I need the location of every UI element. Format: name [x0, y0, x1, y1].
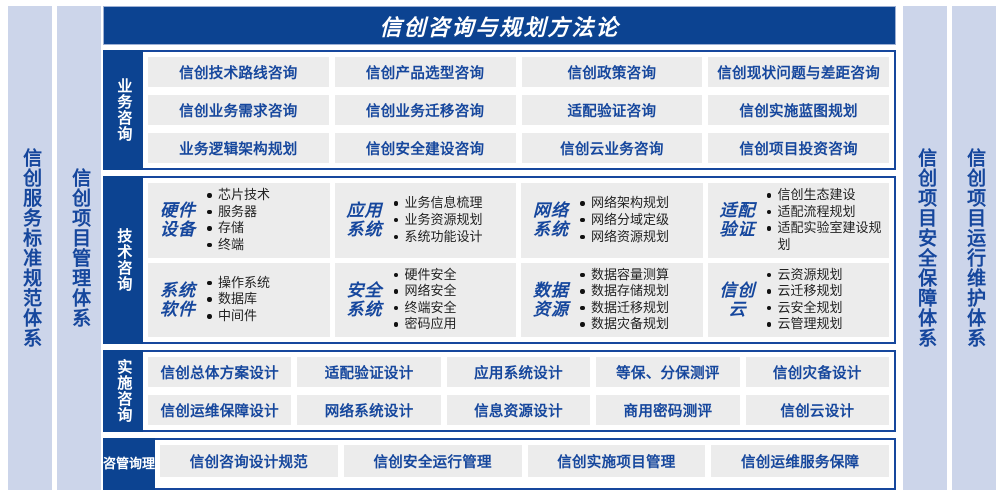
pill-item[interactable]: 网络系统设计	[297, 395, 440, 425]
tech-list-item: 系统功能设计	[393, 229, 513, 246]
tech-list-item: 芯片技术	[206, 187, 326, 204]
tech-list-item: 云安全规划	[766, 300, 886, 317]
tech-card-title: 应用 系统	[341, 201, 393, 239]
tech-list-item: 适配流程规划	[766, 204, 886, 221]
pillar-left-service-standard: 信创服务标准规范体系	[8, 6, 52, 490]
tech-card-xinchuang-cloud[interactable]: 信创 云 云资源规划 云迁移规划 云安全规划 云管理规划	[708, 263, 890, 338]
tech-list-item: 业务资源规划	[393, 212, 513, 229]
section-consulting-management: 咨管 询理 信创咨询设计规范 信创安全运行管理 信创实施项目管理 信创运维服务保…	[103, 438, 896, 490]
pillar-left-project-management: 信创项目管理体系	[57, 6, 101, 490]
pill-item[interactable]: 信创运维服务保障	[711, 445, 889, 477]
tech-list-item: 适配实验室建设规划	[766, 220, 886, 253]
tech-list-item: 中间件	[206, 308, 326, 325]
pillar-right-operations-maintenance: 信创项目运行维护体系	[952, 6, 996, 490]
page-title: 信创咨询与规划方法论	[103, 6, 896, 45]
tech-card-title-line: 云	[714, 300, 762, 319]
tech-card-title-line: 信创	[714, 281, 762, 300]
tech-card-title-line: 验证	[714, 220, 762, 239]
section-body-technical-consulting: 硬件 设备 芯片技术 服务器 存储 终端 应用 系统	[143, 176, 896, 344]
section-label-technical-consulting: 技术咨询	[103, 176, 143, 344]
tech-list-item: 数据库	[206, 291, 326, 308]
pill-row: 信创运维保障设计 网络系统设计 信息资源设计 商用密码测评 信创云设计	[148, 395, 889, 425]
tech-card-list: 信创生态建设 适配流程规划 适配实验室建设规划	[766, 187, 886, 254]
pill-item[interactable]: 信创现状问题与差距咨询	[708, 57, 889, 87]
pill-item[interactable]: 商用密码测评	[596, 395, 739, 425]
pill-item[interactable]: 信创业务迁移咨询	[335, 95, 516, 125]
tech-card-title-line: 系统	[154, 281, 202, 300]
tech-list-item: 网络资源规划	[579, 229, 699, 246]
pill-item[interactable]: 信创运维保障设计	[148, 395, 291, 425]
pillar-right-security-assurance: 信创项目安全保障体系	[903, 6, 947, 490]
tech-card-title-line: 硬件	[154, 201, 202, 220]
tech-card-list: 网络架构规划 网络分域定级 网络资源规划	[579, 195, 699, 245]
pill-row: 业务逻辑架构规划 信创安全建设咨询 信创云业务咨询 信创项目投资咨询	[148, 133, 889, 163]
tech-card-title: 网络 系统	[527, 201, 579, 239]
tech-list-item: 存储	[206, 220, 326, 237]
pill-item[interactable]: 适配验证咨询	[522, 95, 703, 125]
tech-list-item: 网络分域定级	[579, 212, 699, 229]
pill-item[interactable]: 信创实施蓝图规划	[708, 95, 889, 125]
tech-card-adaptation-verification[interactable]: 适配 验证 信创生态建设 适配流程规划 适配实验室建设规划	[708, 183, 890, 258]
tech-card-list: 数据容量测算 数据存储规划 数据迁移规划 数据灾备规划	[579, 267, 699, 334]
pill-item[interactable]: 适配验证设计	[297, 357, 440, 387]
tech-list-item: 操作系统	[206, 275, 326, 292]
pill-item[interactable]: 信创技术路线咨询	[148, 57, 329, 87]
tech-card-title-line: 数据	[527, 281, 575, 300]
tech-card-security-system[interactable]: 安全 系统 硬件安全 网络安全 终端安全 密码应用	[335, 263, 517, 338]
section-implementation-consulting: 实施咨询 信创总体方案设计 适配验证设计 应用系统设计 等保、分保测评 信创灾备…	[103, 350, 896, 432]
pill-item[interactable]: 信创云设计	[746, 395, 889, 425]
tech-list-item: 云资源规划	[766, 267, 886, 284]
pill-item[interactable]: 信创总体方案设计	[148, 357, 291, 387]
tech-card-list: 芯片技术 服务器 存储 终端	[206, 187, 326, 254]
tech-card-application-system[interactable]: 应用 系统 业务信息梳理 业务资源规划 系统功能设计	[335, 183, 517, 258]
tech-list-item: 终端安全	[393, 300, 513, 317]
tech-list-item: 数据容量测算	[579, 267, 699, 284]
pill-item[interactable]: 信创产品选型咨询	[335, 57, 516, 87]
section-label-consulting-management: 咨管 询理	[103, 438, 155, 490]
tech-card-list: 业务信息梳理 业务资源规划 系统功能设计	[393, 195, 513, 245]
diagram-root: 信创服务标准规范体系 信创项目管理体系 信创项目安全保障体系 信创项目运行维护体…	[0, 0, 1000, 496]
tech-card-system-software[interactable]: 系统 软件 操作系统 数据库 中间件	[148, 263, 330, 338]
section-body-consulting-management: 信创咨询设计规范 信创安全运行管理 信创实施项目管理 信创运维服务保障	[155, 438, 896, 490]
tech-card-title: 信创 云	[714, 281, 766, 319]
pill-item[interactable]: 信创灾备设计	[746, 357, 889, 387]
pill-item[interactable]: 信创安全建设咨询	[335, 133, 516, 163]
tech-list-item: 业务信息梳理	[393, 195, 513, 212]
tech-list-item: 服务器	[206, 204, 326, 221]
pill-item[interactable]: 信创业务需求咨询	[148, 95, 329, 125]
section-label-line: 咨管	[103, 457, 129, 472]
tech-card-title-line: 系统	[527, 220, 575, 239]
pill-row: 信创咨询设计规范 信创安全运行管理 信创实施项目管理 信创运维服务保障	[160, 445, 889, 477]
section-label-business-consulting: 业务咨询	[103, 50, 143, 170]
tech-card-list: 硬件安全 网络安全 终端安全 密码应用	[393, 267, 513, 334]
pill-item[interactable]: 信创云业务咨询	[522, 133, 703, 163]
tech-card-title: 安全 系统	[341, 281, 393, 319]
tech-card-title-line: 应用	[341, 201, 389, 220]
pill-item[interactable]: 信创咨询设计规范	[160, 445, 338, 477]
tech-list-item: 硬件安全	[393, 267, 513, 284]
tech-list-item: 云管理规划	[766, 316, 886, 333]
pill-item[interactable]: 信创实施项目管理	[528, 445, 706, 477]
tech-card-title-line: 软件	[154, 300, 202, 319]
tech-list-item: 云迁移规划	[766, 283, 886, 300]
tech-card-title-line: 系统	[341, 220, 389, 239]
tech-card-hardware-equipment[interactable]: 硬件 设备 芯片技术 服务器 存储 终端	[148, 183, 330, 258]
tech-card-list: 云资源规划 云迁移规划 云安全规划 云管理规划	[766, 267, 886, 334]
section-body-business-consulting: 信创技术路线咨询 信创产品选型咨询 信创政策咨询 信创现状问题与差距咨询 信创业…	[143, 50, 896, 170]
pill-item[interactable]: 信息资源设计	[447, 395, 590, 425]
tech-card-title: 硬件 设备	[154, 201, 206, 239]
tech-list-item: 终端	[206, 237, 326, 254]
pill-row: 信创技术路线咨询 信创产品选型咨询 信创政策咨询 信创现状问题与差距咨询	[148, 57, 889, 87]
pill-item[interactable]: 信创政策咨询	[522, 57, 703, 87]
tech-card-title-line: 设备	[154, 220, 202, 239]
tech-list-item: 数据存储规划	[579, 283, 699, 300]
tech-list-item: 数据迁移规划	[579, 300, 699, 317]
tech-card-title: 数据 资源	[527, 281, 579, 319]
tech-card-title-line: 安全	[341, 281, 389, 300]
pill-item[interactable]: 应用系统设计	[447, 357, 590, 387]
section-business-consulting: 业务咨询 信创技术路线咨询 信创产品选型咨询 信创政策咨询 信创现状问题与差距咨…	[103, 50, 896, 170]
pill-item[interactable]: 等保、分保测评	[596, 357, 739, 387]
tech-card-title: 适配 验证	[714, 201, 766, 239]
technical-card-grid: 硬件 设备 芯片技术 服务器 存储 终端 应用 系统	[148, 183, 889, 337]
tech-card-title-line: 系统	[341, 300, 389, 319]
tech-card-title-line: 网络	[527, 201, 575, 220]
tech-list-item: 网络架构规划	[579, 195, 699, 212]
tech-card-network-system[interactable]: 网络 系统 网络架构规划 网络分域定级 网络资源规划	[521, 183, 703, 258]
pill-item[interactable]: 信创项目投资咨询	[708, 133, 889, 163]
section-body-implementation-consulting: 信创总体方案设计 适配验证设计 应用系统设计 等保、分保测评 信创灾备设计 信创…	[143, 350, 896, 432]
tech-card-title: 系统 软件	[154, 281, 206, 319]
tech-card-title-line: 适配	[714, 201, 762, 220]
tech-list-item: 网络安全	[393, 283, 513, 300]
pill-item[interactable]: 信创安全运行管理	[344, 445, 522, 477]
tech-card-data-resource[interactable]: 数据 资源 数据容量测算 数据存储规划 数据迁移规划 数据灾备规划	[521, 263, 703, 338]
tech-list-item: 数据灾备规划	[579, 316, 699, 333]
tech-list-item: 密码应用	[393, 316, 513, 333]
pill-row: 信创业务需求咨询 信创业务迁移咨询 适配验证咨询 信创实施蓝图规划	[148, 95, 889, 125]
pill-item[interactable]: 业务逻辑架构规划	[148, 133, 329, 163]
section-label-implementation-consulting: 实施咨询	[103, 350, 143, 432]
pill-row: 信创总体方案设计 适配验证设计 应用系统设计 等保、分保测评 信创灾备设计	[148, 357, 889, 387]
tech-list-item: 信创生态建设	[766, 187, 886, 204]
tech-card-title-line: 资源	[527, 300, 575, 319]
tech-card-list: 操作系统 数据库 中间件	[206, 275, 326, 325]
section-technical-consulting: 技术咨询 硬件 设备 芯片技术 服务器 存储 终端	[103, 176, 896, 344]
section-label-line: 询理	[129, 457, 155, 472]
